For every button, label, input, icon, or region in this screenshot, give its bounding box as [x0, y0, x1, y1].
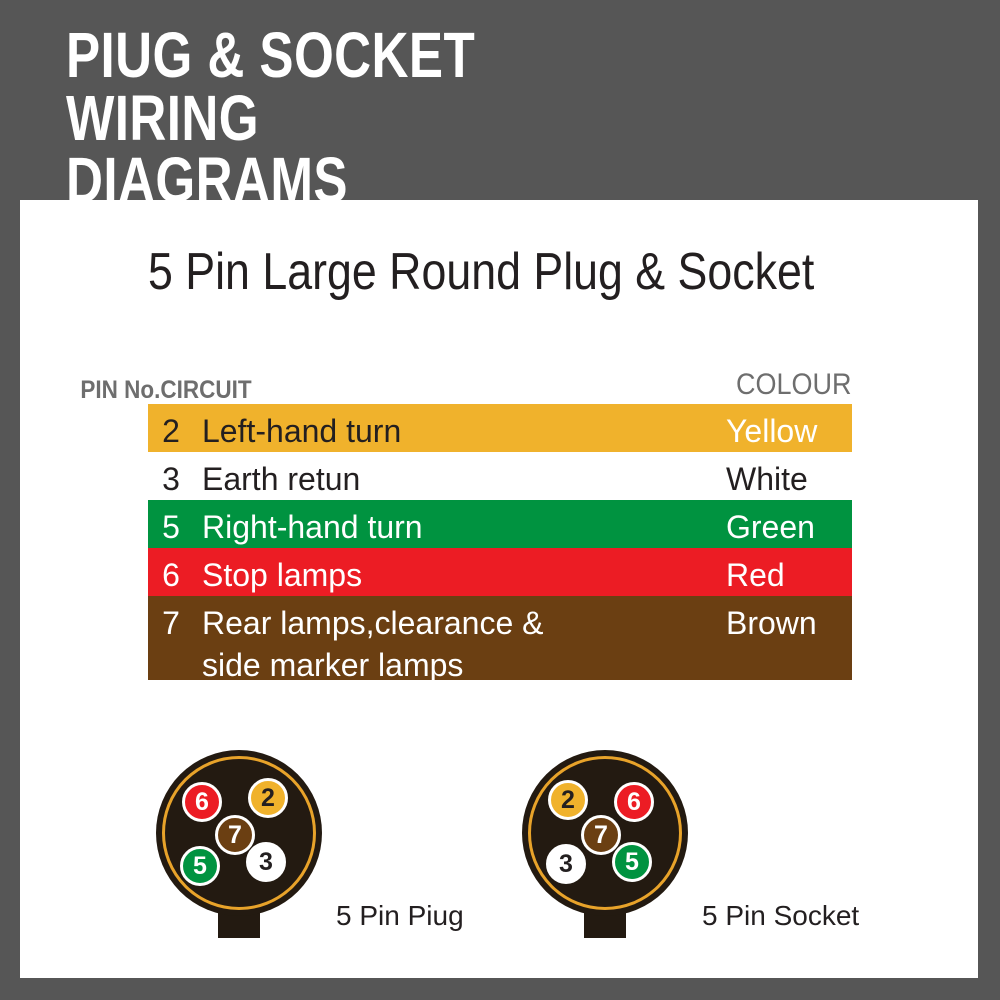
socket-pin-5: 5	[612, 842, 652, 882]
table-row: 3Earth retunWhite	[148, 452, 852, 500]
socket-body: 26735	[522, 750, 688, 916]
cell-colour: Brown	[726, 602, 817, 644]
socket-diagram: 26735 5 Pin Socket	[522, 750, 697, 950]
cell-pin-number: 7	[154, 602, 188, 644]
panel-subtitle: 5 Pin Large Round Plug & Socket	[148, 246, 814, 298]
socket-pin-3: 3	[546, 844, 586, 884]
table-body: 2Left-hand turnYellow3Earth retunWhite5R…	[148, 404, 852, 680]
cell-colour: Green	[726, 506, 815, 548]
cell-colour: Red	[726, 554, 785, 596]
plug-pin-5: 5	[180, 846, 220, 886]
plug-body: 62753	[156, 750, 322, 916]
plug-diagram: 62753 5 Pin Piug	[156, 750, 331, 950]
socket-pin-2: 2	[548, 780, 588, 820]
socket-pin-6: 6	[614, 782, 654, 822]
cell-circuit: Left-hand turn	[202, 410, 401, 452]
cell-circuit: Right-hand turn	[202, 506, 423, 548]
cell-pin-number: 5	[154, 506, 188, 548]
wiring-table: PIN No.CIRCUIT COLOUR 2Left-hand turnYel…	[148, 370, 852, 680]
table-row: 6Stop lampsRed	[148, 548, 852, 596]
cell-colour: White	[726, 458, 808, 500]
plug-pin-3: 3	[246, 842, 286, 882]
cell-pin-number: 6	[154, 554, 188, 596]
plug-caption: 5 Pin Piug	[336, 900, 464, 932]
column-header-colour: COLOUR	[736, 370, 852, 400]
table-row: 7Rear lamps,clearance & side marker lamp…	[148, 596, 852, 680]
cell-circuit: Stop lamps	[202, 554, 362, 596]
page-title: PIUG & SOCKET WIRING DIAGRAMS	[66, 24, 642, 212]
table-header-row: PIN No.CIRCUIT COLOUR	[148, 370, 852, 404]
content-panel: 5 Pin Large Round Plug & Socket PIN No.C…	[20, 200, 978, 978]
plug-pin-6: 6	[182, 782, 222, 822]
plug-pin-2: 2	[248, 778, 288, 818]
socket-caption: 5 Pin Socket	[702, 900, 859, 932]
cell-pin-number: 3	[154, 458, 188, 500]
cell-colour: Yellow	[726, 410, 817, 452]
table-row: 5Right-hand turnGreen	[148, 500, 852, 548]
cell-pin-number: 2	[154, 410, 188, 452]
cell-circuit: Rear lamps,clearance & side marker lamps	[202, 602, 543, 686]
cell-circuit: Earth retun	[202, 458, 360, 500]
table-row: 2Left-hand turnYellow	[148, 404, 852, 452]
